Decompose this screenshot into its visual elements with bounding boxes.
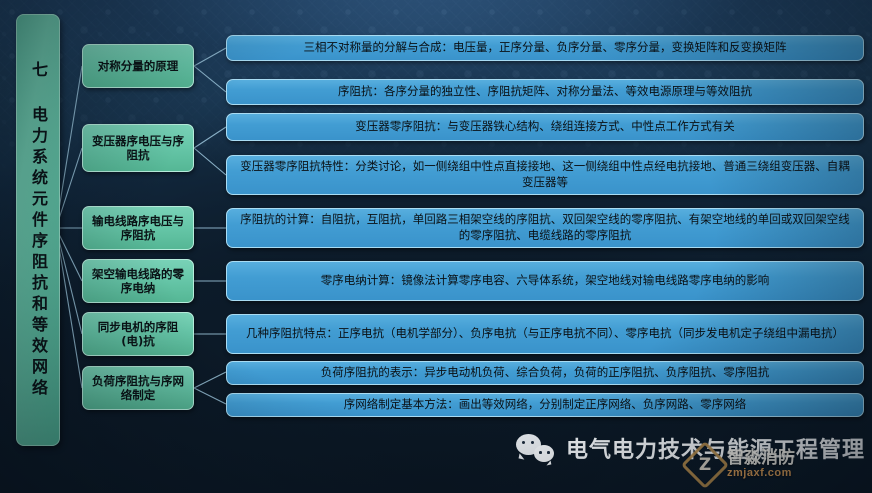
root-title-text: 七 电力系统元件序阻抗和等效网络 (30, 61, 46, 400)
watermark: Z 智淼消防 zmjaxf.com (688, 448, 795, 482)
node-box-1[interactable]: 对称分量的原理 (82, 44, 194, 88)
link-node-1-leaf-1 (194, 48, 226, 66)
leaf-box-1-1[interactable]: 三相不对称量的分解与合成：电压量，正序分量、负序分量、零序分量，变换矩阵和反变换… (226, 35, 864, 61)
node-box-5[interactable]: 同步电机的序阻(电)抗 (82, 312, 194, 356)
link-node-6-leaf-2 (194, 388, 226, 404)
watermark-logo-icon: Z (688, 448, 722, 482)
node-box-2[interactable]: 变压器序电压与序阻抗 (82, 124, 194, 172)
link-node-1-leaf-2 (194, 66, 226, 92)
leaf-box-5-1[interactable]: 几种序阻抗特点：正序电抗（电机学部分）、负序电抗（与正序电抗不同）、零序电抗（同… (226, 314, 864, 354)
leaf-box-3-1[interactable]: 序阻抗的计算：自阻抗，互阻抗，单回路三相架空线的序阻抗、双回架空线的零序阻抗、有… (226, 208, 864, 248)
leaf-box-2-1[interactable]: 变压器零序阻抗：与变压器铁心结构、绕组连接方式、中性点工作方式有关 (226, 113, 864, 141)
node-box-3[interactable]: 输电线路序电压与序阻抗 (82, 206, 194, 250)
leaf-box-4-1[interactable]: 零序电纳计算：镜像法计算零序电容、六导体系统，架空地线对输电线路零序电纳的影响 (226, 261, 864, 301)
watermark-url: zmjaxf.com (727, 468, 795, 480)
node-box-4[interactable]: 架空输电线路的零序电纳 (82, 259, 194, 303)
wechat-icon (516, 434, 554, 462)
node-box-6[interactable]: 负荷序阻抗与序网络制定 (82, 366, 194, 410)
leaf-box-6-2[interactable]: 序网络制定基本方法：画出等效网络，分别制定正序网络、负序网路、零序网络 (226, 393, 864, 417)
mindmap-canvas: 七 电力系统元件序阻抗和等效网络 对称分量的原理 变压器序电压与序阻抗 输电线路… (0, 0, 872, 493)
link-node-6-leaf-1 (194, 372, 226, 388)
link-node-2-leaf-1 (194, 127, 226, 148)
leaf-box-2-2[interactable]: 变压器零序阻抗特性：分类讨论，如一侧绕组中性点直接接地、这一侧绕组中性点经电抗接… (226, 155, 864, 195)
leaf-box-1-2[interactable]: 序阻抗：各序分量的独立性、序阻抗矩阵、对称分量法、等效电源原理与等效阻抗 (226, 79, 864, 105)
root-title-bar[interactable]: 七 电力系统元件序阻抗和等效网络 (16, 14, 60, 446)
watermark-name: 智淼消防 (727, 450, 795, 468)
link-node-2-leaf-2 (194, 148, 226, 175)
leaf-box-6-1[interactable]: 负荷序阻抗的表示：异步电动机负荷、综合负荷，负荷的正序阻抗、负序阻抗、零序阻抗 (226, 361, 864, 385)
